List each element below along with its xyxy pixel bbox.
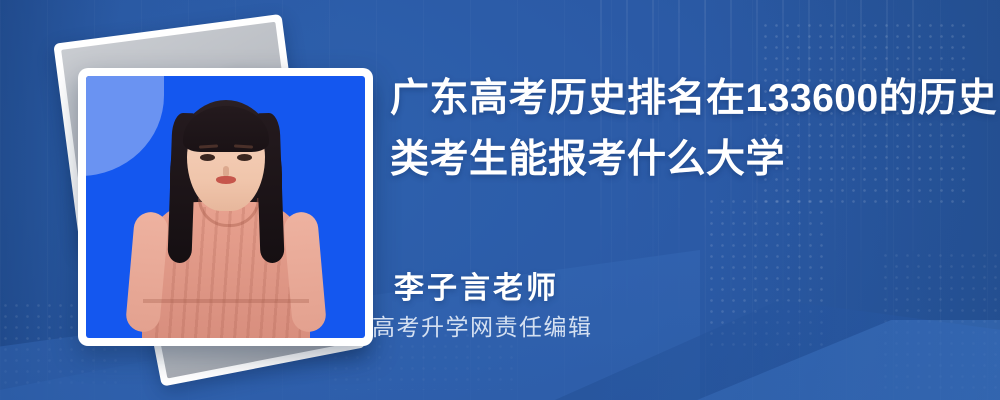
eye-right [237,154,252,161]
banner-graphic: 广东高考历史排名在133600的历史 类考生能报考什么大学 李子言老师 高考升学… [0,0,1000,400]
person-portrait [86,76,365,338]
eye-left [200,154,215,161]
photo-card-stack [40,28,360,348]
headline-line-2: 类考生能报考什么大学 [390,129,970,190]
byline: 李子言老师 高考升学网责任编辑 [372,268,932,344]
author-name: 李子言老师 [372,268,932,310]
author-photo-card [78,68,373,346]
author-photo [86,76,365,338]
headline: 广东高考历史排名在133600的历史 类考生能报考什么大学 [390,68,970,190]
dress-waistline [143,299,309,303]
author-role: 高考升学网责任编辑 [372,310,932,344]
headline-line-1: 广东高考历史排名在133600的历史 [390,68,970,129]
